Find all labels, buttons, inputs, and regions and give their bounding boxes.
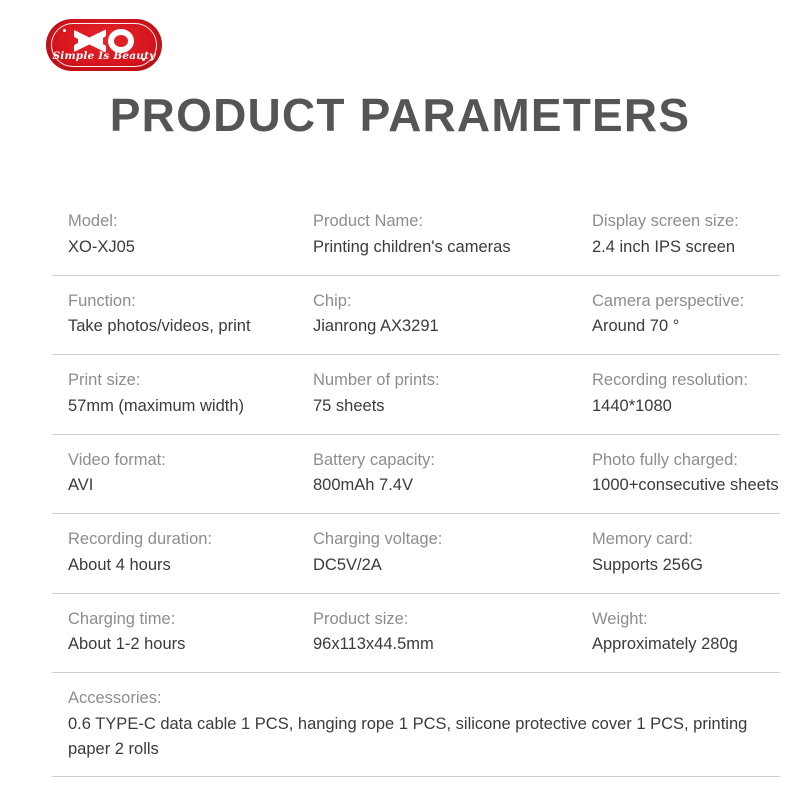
spec-value: About 4 hours bbox=[68, 553, 212, 579]
spec-cell: Model: XO-XJ05 bbox=[68, 209, 135, 260]
spec-value: About 1-2 hours bbox=[68, 632, 185, 658]
logo-letter-x-icon bbox=[75, 29, 105, 53]
spec-label: Product Name: bbox=[313, 209, 511, 235]
spec-label: Print size: bbox=[68, 368, 244, 394]
spec-label: Charging time: bbox=[68, 607, 185, 633]
spec-value: 96x113x44.5mm bbox=[313, 632, 434, 658]
spec-label: Accessories: bbox=[68, 686, 772, 712]
spec-value: 57mm (maximum width) bbox=[68, 394, 244, 420]
spec-label: Recording duration: bbox=[68, 527, 212, 553]
table-row: Recording duration: About 4 hours Chargi… bbox=[52, 514, 780, 594]
spec-cell: Battery capacity: 800mAh 7.4V bbox=[313, 448, 435, 499]
spec-label: Battery capacity: bbox=[313, 448, 435, 474]
spec-cell: Display screen size: 2.4 inch IPS screen bbox=[592, 209, 739, 260]
spec-cell: Video format: AVI bbox=[68, 448, 166, 499]
table-row: Model: XO-XJ05 Product Name: Printing ch… bbox=[52, 196, 780, 276]
spec-cell: Number of prints: 75 sheets bbox=[313, 368, 440, 419]
table-row: Function: Take photos/videos, print Chip… bbox=[52, 276, 780, 356]
spec-value: Jianrong AX3291 bbox=[313, 314, 439, 340]
spec-value: Printing children's cameras bbox=[313, 235, 511, 261]
spec-label: Product size: bbox=[313, 607, 434, 633]
spec-value: DC5V/2A bbox=[313, 553, 442, 579]
spec-label: Model: bbox=[68, 209, 135, 235]
spec-cell: Memory card: Supports 256G bbox=[592, 527, 703, 578]
table-row: Charging time: About 1-2 hours Product s… bbox=[52, 594, 780, 674]
brand-logo: Simple Is Beauty bbox=[46, 19, 162, 71]
spec-cell: Charging time: About 1-2 hours bbox=[68, 607, 185, 658]
spec-cell-accessories: Accessories: 0.6 TYPE-C data cable 1 PCS… bbox=[68, 686, 772, 763]
spec-label: Display screen size: bbox=[592, 209, 739, 235]
spec-cell: Photo fully charged: 1000+consecutive sh… bbox=[592, 448, 779, 499]
spec-value: AVI bbox=[68, 473, 166, 499]
table-row: Print size: 57mm (maximum width) Number … bbox=[52, 355, 780, 435]
spec-cell: Charging voltage: DC5V/2A bbox=[313, 527, 442, 578]
spec-value: XO-XJ05 bbox=[68, 235, 135, 261]
spec-value: 1000+consecutive sheets bbox=[592, 473, 779, 499]
spec-label: Number of prints: bbox=[313, 368, 440, 394]
spec-value: Around 70 ° bbox=[592, 314, 744, 340]
spec-label: Chip: bbox=[313, 289, 439, 315]
spec-label: Weight: bbox=[592, 607, 738, 633]
spec-value: Supports 256G bbox=[592, 553, 703, 579]
spec-value: 2.4 inch IPS screen bbox=[592, 235, 739, 261]
spec-value: 0.6 TYPE-C data cable 1 PCS, hanging rop… bbox=[68, 712, 748, 763]
table-row: Video format: AVI Battery capacity: 800m… bbox=[52, 435, 780, 515]
spec-cell: Function: Take photos/videos, print bbox=[68, 289, 251, 340]
spec-label: Camera perspective: bbox=[592, 289, 744, 315]
spec-value: 75 sheets bbox=[313, 394, 440, 420]
spec-cell: Camera perspective: Around 70 ° bbox=[592, 289, 744, 340]
spec-cell: Recording resolution: 1440*1080 bbox=[592, 368, 748, 419]
table-row-accessories: Accessories: 0.6 TYPE-C data cable 1 PCS… bbox=[52, 673, 780, 777]
spec-cell: Product size: 96x113x44.5mm bbox=[313, 607, 434, 658]
spec-label: Function: bbox=[68, 289, 251, 315]
page-title: PRODUCT PARAMETERS bbox=[0, 92, 800, 138]
spec-cell: Product Name: Printing children's camera… bbox=[313, 209, 511, 260]
spec-value: Take photos/videos, print bbox=[68, 314, 251, 340]
logo-letter-o-icon bbox=[108, 29, 134, 53]
spec-cell: Weight: Approximately 280g bbox=[592, 607, 738, 658]
spec-value: Approximately 280g bbox=[592, 632, 738, 658]
spec-label: Recording resolution: bbox=[592, 368, 748, 394]
spec-cell: Recording duration: About 4 hours bbox=[68, 527, 212, 578]
spec-label: Photo fully charged: bbox=[592, 448, 779, 474]
spec-value: 800mAh 7.4V bbox=[313, 473, 435, 499]
spec-value: 1440*1080 bbox=[592, 394, 748, 420]
spec-label: Memory card: bbox=[592, 527, 703, 553]
logo-tagline: Simple Is Beauty bbox=[46, 50, 162, 62]
spec-table: Model: XO-XJ05 Product Name: Printing ch… bbox=[52, 196, 780, 777]
spec-cell: Chip: Jianrong AX3291 bbox=[313, 289, 439, 340]
spec-label: Charging voltage: bbox=[313, 527, 442, 553]
spec-label: Video format: bbox=[68, 448, 166, 474]
spec-cell: Print size: 57mm (maximum width) bbox=[68, 368, 244, 419]
